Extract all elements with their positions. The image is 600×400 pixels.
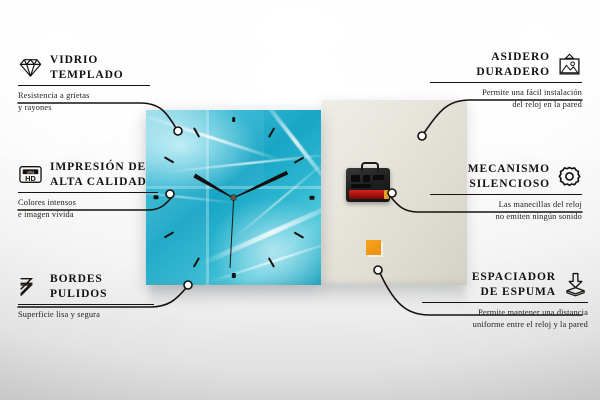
connector-dot-mecanismo — [388, 189, 396, 197]
feature-header: ESPACIADOR DE ESPUMA — [422, 270, 588, 299]
feature-description: Las manecillas del reloj no emiten ningú… — [430, 199, 582, 222]
connector-dot-bordes — [184, 281, 192, 289]
connector-dot-asidero — [418, 132, 426, 140]
feature-bordes-pulidos: BORDES PULIDOS Superficie lisa y segura — [18, 272, 154, 321]
feature-header: MECANISMO SILENCIOSO — [430, 162, 582, 191]
feature-vidrio-templado: VIDRIO TEMPLADO Resistencia a grietas y … — [18, 53, 150, 114]
feature-title: ASIDERO DURADERO — [476, 50, 550, 79]
feature-divider — [430, 194, 582, 195]
feature-asidero-duradero: ASIDERO DURADERO Permite una fácil insta… — [430, 50, 582, 111]
feature-header: ASIDERO DURADERO — [430, 50, 582, 79]
feature-header: BORDES PULIDOS — [18, 272, 154, 301]
infographic-canvas: VIDRIO TEMPLADO Resistencia a grietas y … — [0, 0, 600, 400]
feature-header: VIDRIO TEMPLADO — [18, 53, 150, 82]
connector-dot-vidrio-templado — [174, 127, 182, 135]
connector-dot-impresion — [166, 190, 174, 198]
feature-title: VIDRIO TEMPLADO — [50, 53, 124, 82]
ultra-hd-icon: ultra HD — [18, 162, 43, 187]
feature-title: IMPRESIÓN DE ALTA CALIDAD — [50, 160, 147, 189]
feature-title: MECANISMO SILENCIOSO — [468, 162, 550, 191]
feature-impresion-alta-calidad: ultra HD IMPRESIÓN DE ALTA CALIDAD Color… — [18, 160, 158, 221]
diamond-icon — [18, 55, 43, 80]
feature-title: ESPACIADOR DE ESPUMA — [472, 270, 556, 299]
feature-divider — [18, 304, 154, 305]
feature-divider — [18, 85, 150, 86]
feature-description: Permite mantener una distancia uniforme … — [422, 307, 588, 330]
picture-frame-hanger-icon — [557, 52, 582, 77]
gear-icon — [557, 164, 582, 189]
polished-edges-icon — [18, 274, 43, 299]
svg-text:HD: HD — [25, 174, 36, 183]
feature-divider — [422, 302, 588, 303]
feature-divider — [18, 192, 158, 193]
foam-spacer-arrow-icon — [563, 272, 588, 297]
feature-espaciador-de-espuma: ESPACIADOR DE ESPUMA Permite mantener un… — [422, 270, 588, 331]
feature-divider — [430, 82, 582, 83]
feature-description: Superficie lisa y segura — [18, 309, 154, 321]
feature-description: Permite una fácil instalación del reloj … — [430, 87, 582, 110]
feature-title: BORDES PULIDOS — [50, 272, 107, 301]
connector-dot-espaciador — [374, 266, 382, 274]
feature-mecanismo-silencioso: MECANISMO SILENCIOSO Las manecillas del … — [430, 162, 582, 223]
feature-description: Resistencia a grietas y rayones — [18, 90, 150, 113]
feature-header: ultra HD IMPRESIÓN DE ALTA CALIDAD — [18, 160, 158, 189]
feature-description: Colores intensos e imagen vívida — [18, 197, 158, 220]
